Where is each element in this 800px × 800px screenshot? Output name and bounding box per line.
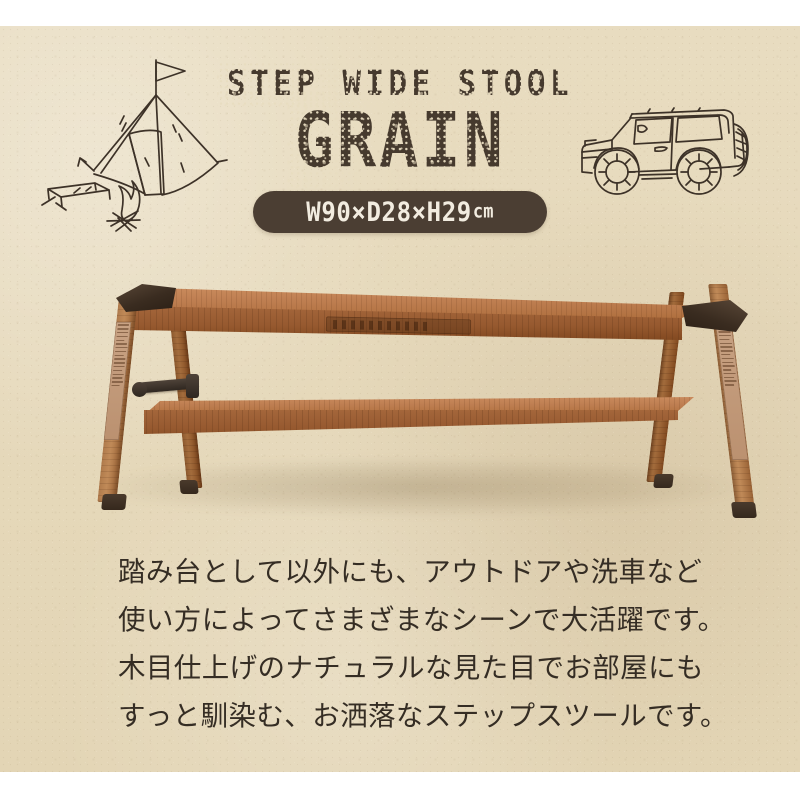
- tent-peg-right: [217, 160, 227, 162]
- description-line-4: すっと馴染む、お洒落なステップスツールです。: [118, 692, 682, 740]
- spare-tire-icon: [734, 124, 748, 176]
- title-label: GRAIN: [294, 96, 505, 185]
- tent-peg-left: [78, 158, 94, 171]
- camp-cot-icon: [42, 183, 110, 210]
- tent-right-ridge: [156, 95, 217, 162]
- description-line-1: 踏み台として以外にも、アウトドアや洗車など: [118, 548, 682, 596]
- product-banner: STEP WIDE STOOL GRAIN W90×D28×H29cm: [0, 0, 800, 800]
- flag-icon: [156, 62, 185, 81]
- car-front-wheel: [595, 150, 639, 194]
- car-rear-wheel: [677, 150, 721, 194]
- lower-rail-front-face: [134, 410, 694, 444]
- dimensions-badge: W90×D28×H29cm: [253, 191, 547, 233]
- front-leg-right-foot-cap: [731, 502, 757, 518]
- suv-illustration: [572, 96, 760, 206]
- dimensions-badge-text: W90×D28×H29cm: [253, 189, 547, 235]
- corner-cap-right: [676, 300, 748, 332]
- car-mirror: [638, 125, 647, 132]
- caution-label-right: [714, 310, 748, 460]
- car-rear-window: [676, 116, 722, 142]
- description-line-2: 使い方によってさまざまなシーンで大活躍です。: [118, 596, 682, 644]
- dimensions-unit: cm: [473, 201, 494, 223]
- tent-illustration: [28, 38, 238, 250]
- rear-leg-right-foot-cap: [653, 474, 674, 488]
- hinge-knob: [132, 382, 147, 397]
- front-leg-left-foot-cap: [101, 494, 127, 510]
- tent-left-ridge: [94, 95, 156, 170]
- description-line-3: 木目仕上げのナチュラルな見た目でお部屋にも: [118, 644, 682, 692]
- product-photo: [86, 262, 758, 534]
- description-block: 踏み台として以外にも、アウトドアや洗車など 使い方によってさまざまなシーンで大活…: [118, 548, 682, 740]
- bottom-white-margin: [0, 772, 800, 800]
- hinge-bracket: [186, 374, 199, 398]
- dimensions-value: W90×D28×H29: [306, 197, 472, 228]
- rear-leg-left-foot-cap: [179, 480, 198, 494]
- car-door-handle: [655, 147, 667, 151]
